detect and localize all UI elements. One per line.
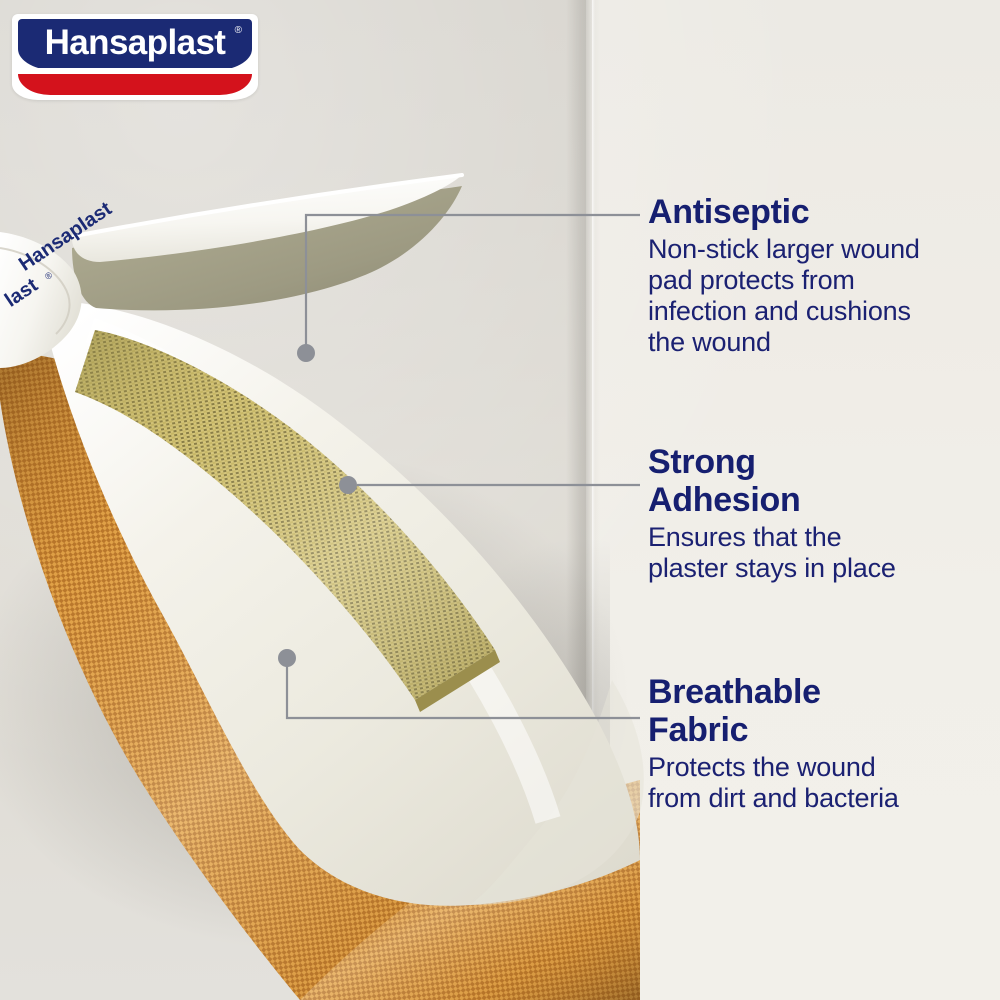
callout-adhesion: Strong Adhesion Ensures that the plaster… — [648, 443, 978, 584]
leader-antiseptic — [297, 215, 640, 362]
callout-antiseptic-heading: Antiseptic — [648, 193, 978, 231]
hansaplast-logo: Hansaplast ® — [12, 14, 258, 100]
callout-antiseptic: Antiseptic Non-stick larger wound pad pr… — [648, 193, 978, 358]
callout-adhesion-body: Ensures that the plaster stays in place — [648, 522, 978, 584]
callout-antiseptic-body: Non-stick larger wound pad protects from… — [648, 234, 978, 358]
logo-red-band — [18, 74, 252, 95]
antiseptic-marker-dot — [297, 344, 315, 362]
adhesion-marker-dot — [339, 476, 357, 494]
logo-wordmark: Hansaplast — [12, 23, 258, 63]
fabric-marker-dot — [278, 649, 296, 667]
callout-fabric-body: Protects the wound from dirt and bacteri… — [648, 752, 978, 814]
leader-fabric — [278, 649, 640, 718]
callout-adhesion-heading: Strong Adhesion — [648, 443, 978, 519]
logo-registered-mark: ® — [235, 26, 242, 36]
leader-adhesion — [339, 476, 640, 494]
callout-fabric-heading: Breathable Fabric — [648, 673, 978, 749]
product-infographic: Hansaplast last ® Hansaplast ® — [0, 0, 1000, 1000]
callout-fabric: Breathable Fabric Protects the wound fro… — [648, 673, 978, 814]
